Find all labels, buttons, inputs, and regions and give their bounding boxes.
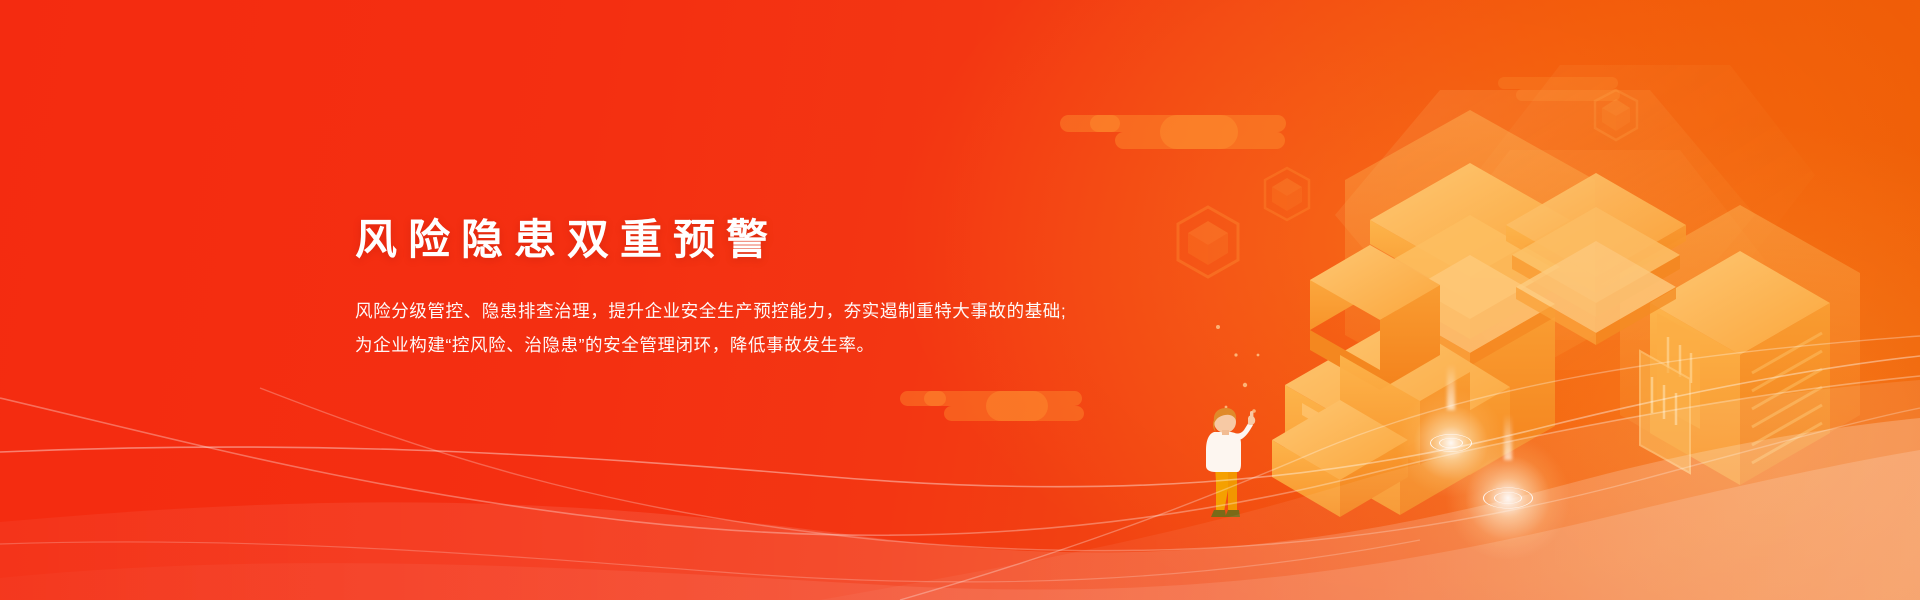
- subtitle-group: 风险分级管控、隐患排查治理，提升企业安全生产预控能力，夯实遏制重特大事故的基础;…: [355, 294, 1066, 362]
- subtitle-line-1: 风险分级管控、隐患排查治理，提升企业安全生产预控能力，夯实遏制重特大事故的基础;: [355, 294, 1066, 328]
- hero-text-block: 风险隐患双重预警 风险分级管控、隐患排查治理，提升企业安全生产预控能力，夯实遏制…: [355, 212, 1066, 362]
- page-title: 风险隐患双重预警: [355, 212, 1066, 268]
- wave-line-5: [0, 540, 1420, 582]
- subtitle-line-2: 为企业构建“控风险、治隐患”的安全管理闭环，降低事故发生率。: [355, 328, 1066, 362]
- hero-banner: 风险隐患双重预警 风险分级管控、隐患排查治理，提升企业安全生产预控能力，夯实遏制…: [0, 0, 1920, 600]
- isometric-datacenter-illustration: [1040, 55, 1920, 525]
- dust-particles: [1216, 325, 1259, 413]
- person-figure: [1193, 404, 1261, 534]
